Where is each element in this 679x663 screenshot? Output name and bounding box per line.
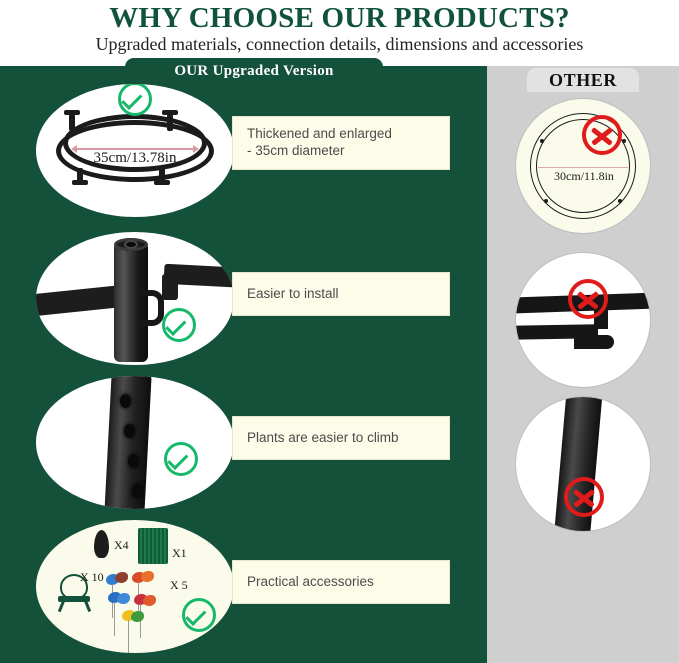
pole-notch — [132, 484, 143, 498]
callout-text: Plants are easier to climb — [247, 430, 399, 447]
ring-joint-dot — [540, 139, 544, 143]
end-cap-qty: X4 — [114, 538, 129, 553]
callout-text: Easier to install — [247, 286, 339, 303]
end-cap-icon — [94, 530, 109, 558]
connector-clip — [142, 290, 164, 326]
other-ring-dimension-label: 30cm/11.8in — [516, 169, 651, 184]
twist-ties-icon — [138, 528, 168, 564]
other-photo-ring: 30cm/11.8in — [515, 98, 651, 234]
check-icon — [162, 308, 196, 342]
frame-bar-tab — [162, 274, 178, 300]
infographic-page: WHY CHOOSE OUR PRODUCTS? Upgraded materi… — [0, 0, 679, 663]
product-photo-connector — [36, 232, 234, 365]
pole-notch — [120, 394, 131, 408]
callout-climb: Plants are easier to climb — [232, 416, 450, 460]
our-row-climb: Plants are easier to climb — [0, 372, 487, 517]
frame-bar-left — [36, 285, 121, 316]
ring-leg — [159, 168, 165, 185]
cross-icon — [564, 477, 604, 517]
ring-joint-dot — [622, 139, 626, 143]
callout-install: Easier to install — [232, 272, 450, 316]
our-row-accessories: X4 X1 X 10 — [0, 516, 487, 661]
page-title: WHY CHOOSE OUR PRODUCTS? — [0, 2, 679, 35]
connector-star-socket-icon — [124, 240, 138, 249]
tab-other: OTHER — [527, 68, 639, 92]
check-icon — [182, 598, 216, 632]
ring-dimension-label: 35cm/13.78in — [36, 150, 234, 167]
plant-clip-qty: X 10 — [80, 570, 104, 585]
callout-accessories: Practical accessories — [232, 560, 450, 604]
callout-ring-size: Thickened and enlarged - 35cm diameter — [232, 116, 450, 170]
other-column-content: 30cm/11.8in — [487, 66, 679, 663]
cross-icon — [568, 279, 608, 319]
product-photo-ring: 35cm/13.78in — [36, 84, 234, 217]
ring-leg — [77, 168, 83, 185]
our-row-install: Easier to install — [0, 228, 487, 373]
ring-joint-dot — [618, 199, 622, 203]
butterfly-qty: X 5 — [170, 578, 188, 593]
other-photo-connector — [515, 252, 651, 388]
page-subtitle: Upgraded materials, connection details, … — [0, 34, 679, 55]
tab-our-upgraded-version: OUR Upgraded Version — [125, 58, 383, 84]
pole-notch — [128, 454, 139, 468]
cross-icon — [582, 115, 622, 155]
product-photo-pole — [36, 376, 234, 509]
other-photo-pole — [515, 396, 651, 532]
product-photo-accessories: X4 X1 X 10 — [36, 520, 234, 653]
callout-text: Thickened and enlarged - 35cm diameter — [247, 126, 392, 160]
our-row-ring-size: 35cm/13.78in Thickened and enlarged - 35… — [0, 80, 487, 225]
check-icon — [164, 442, 198, 476]
ring-joint-dot — [544, 199, 548, 203]
callout-text: Practical accessories — [247, 574, 374, 591]
other-frame-hook — [574, 335, 614, 349]
twist-ties-qty: X1 — [172, 546, 187, 561]
header: WHY CHOOSE OUR PRODUCTS? Upgraded materi… — [0, 0, 679, 66]
pole-notch — [124, 424, 135, 438]
